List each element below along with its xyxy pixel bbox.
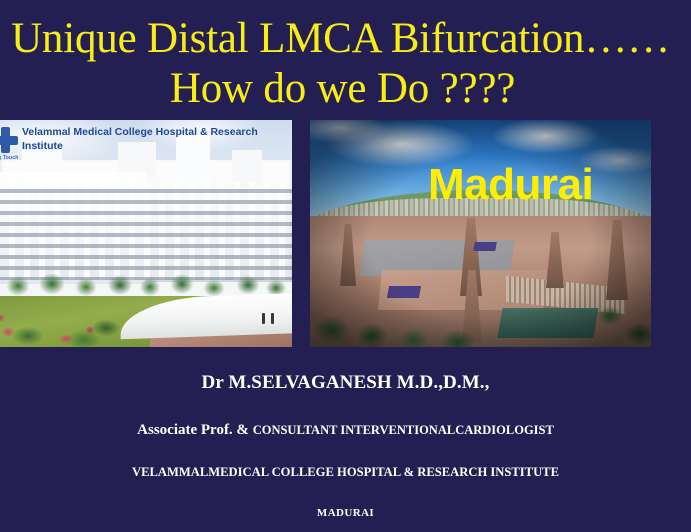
medical-cross-icon [0, 127, 18, 153]
presenter-name: Dr M.SELVAGANESH M.D.,D.M., [0, 372, 691, 394]
presentation-slide: Unique Distal LMCA Bifurcation…… How do … [0, 0, 691, 532]
hospital-flower-bed [0, 306, 124, 347]
presenter-credits: Dr M.SELVAGANESH M.D.,D.M., Associate Pr… [0, 372, 691, 519]
presenter-role: Associate Prof. & CONSULTANT INTERVENTIO… [0, 422, 691, 439]
presenter-city: MADURAI [0, 507, 691, 519]
hospital-logo-bar: g Touch Velammal Medical College Hospita… [0, 120, 292, 162]
presenter-role-suffix: CONSULTANT INTERVENTIONALCARDIOLOGIST [253, 423, 554, 437]
hospital-person [262, 313, 265, 324]
slide-title: Unique Distal LMCA Bifurcation…… How do … [0, 14, 691, 114]
slide-title-line-1: Unique Distal LMCA Bifurcation…… [0, 14, 691, 64]
presenter-role-prefix: Associate Prof. & [137, 422, 253, 438]
hospital-photo: g Touch Velammal Medical College Hospita… [0, 120, 292, 347]
hospital-window-grid [0, 182, 292, 280]
hospital-logo-tagline: g Touch [0, 155, 18, 161]
madurai-greenery [310, 290, 651, 347]
madurai-caption: Madurai [428, 157, 628, 212]
hospital-logo-text: Velammal Medical College Hospital & Rese… [22, 125, 272, 153]
slide-title-line-2: How do we Do ???? [0, 64, 691, 114]
hospital-person [271, 313, 274, 324]
madurai-canopy [473, 242, 497, 251]
madurai-photo: Madurai [310, 120, 651, 347]
presenter-institute: VELAMMALMEDICAL COLLEGE HOSPITAL & RESEA… [0, 465, 691, 480]
